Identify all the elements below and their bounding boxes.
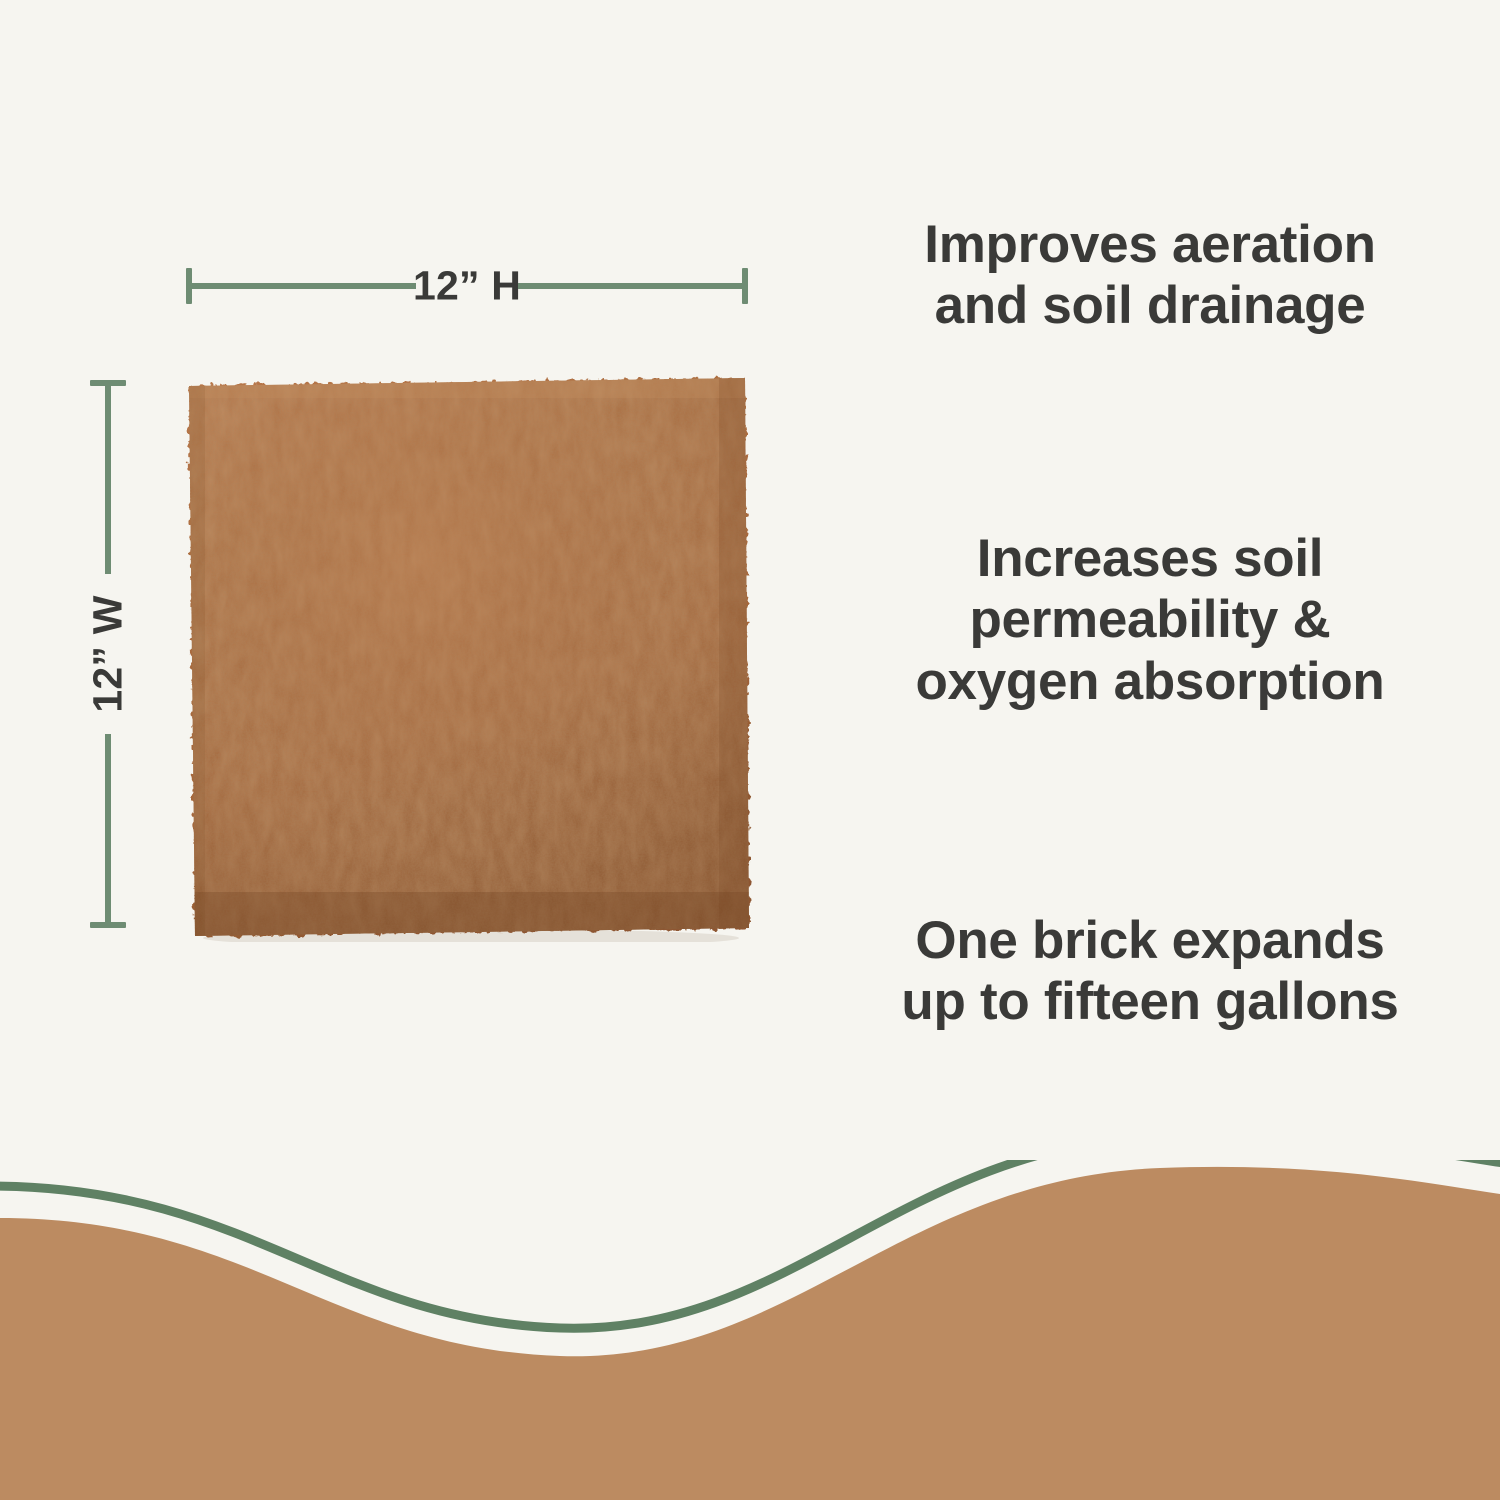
- dimension-label-height: 12” H: [413, 263, 521, 310]
- ruler-line-bottom: [105, 734, 111, 924]
- benefit-line: One brick expands: [800, 910, 1500, 971]
- dimension-ruler-horizontal: 12” H: [186, 262, 748, 310]
- wave-tan-fill: [0, 1167, 1500, 1500]
- benefit-line: up to fifteen gallons: [800, 971, 1500, 1032]
- dimension-ruler-vertical: 12” W: [84, 380, 132, 928]
- wave-footer-decoration: [0, 1160, 1500, 1500]
- product-image-area: 12” H 12” W: [0, 0, 810, 1100]
- ruler-end-cap-right: [742, 268, 748, 304]
- ruler-line-top: [105, 384, 111, 574]
- ruler-line-right: [518, 283, 744, 289]
- benefit-item-aeration-drainage: Improves aeration and soil drainage: [800, 214, 1500, 337]
- infographic-canvas: 12” H 12” W: [0, 0, 1500, 1500]
- wave-svg: [0, 1160, 1500, 1500]
- benefit-line: permeability &: [800, 589, 1500, 650]
- benefit-line: Improves aeration: [800, 214, 1500, 275]
- benefit-line: Increases soil: [800, 528, 1500, 589]
- coir-brick-image: [183, 372, 753, 942]
- benefit-item-permeability-oxygen: Increases soil permeability & oxygen abs…: [800, 528, 1500, 712]
- dimension-label-width: 12” W: [85, 595, 132, 712]
- ruler-line-left: [190, 283, 416, 289]
- coir-brick-svg: [183, 372, 753, 942]
- benefits-list: Improves aeration and soil drainage Incr…: [800, 0, 1500, 1100]
- benefit-item-expansion-volume: One brick expands up to fifteen gallons: [800, 910, 1500, 1033]
- ruler-end-cap-bottom: [90, 922, 126, 928]
- benefit-line: oxygen absorption: [800, 651, 1500, 712]
- benefit-line: and soil drainage: [800, 275, 1500, 336]
